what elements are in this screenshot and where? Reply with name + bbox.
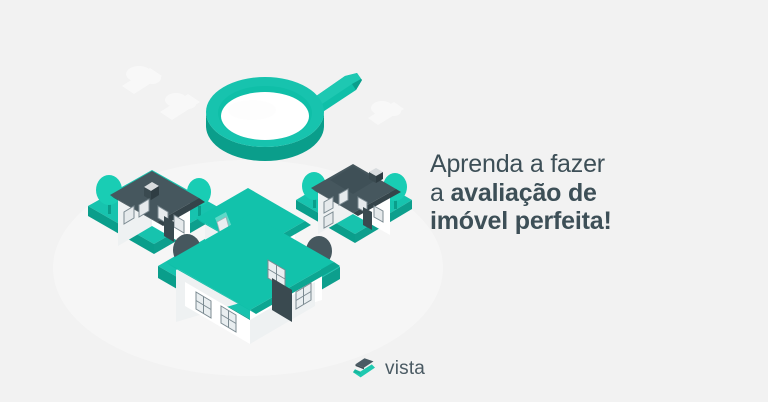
headline: Aprenda a fazer a avaliação de imóvel pe… xyxy=(430,150,760,236)
headline-line-2: a avaliação de xyxy=(430,179,760,208)
headline-line-1: Aprenda a fazer xyxy=(430,150,760,179)
vista-logo: vista xyxy=(352,350,462,386)
logo-wordmark: vista xyxy=(385,359,425,378)
magnifier-lens-highlight xyxy=(228,100,276,120)
headline-line-3: imóvel perfeita! xyxy=(430,207,760,236)
headline-line-2-emphasis: avaliação de xyxy=(450,179,596,207)
headline-line-2-prefix: a xyxy=(430,179,450,207)
promo-banner: Aprenda a fazer a avaliação de imóvel pe… xyxy=(0,0,768,402)
layers-icon xyxy=(352,355,378,381)
